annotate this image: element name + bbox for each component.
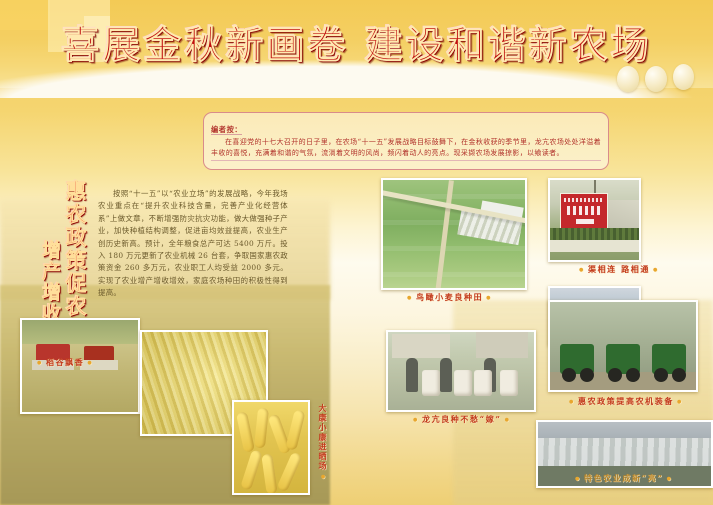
caption-rice-harvesters: 稻谷飘香 [34,357,96,368]
caption-corn-cobs: 大康小康进晒场 [318,404,329,482]
caption-greenhouse-field: 特色农业成新“亮” [572,473,676,484]
vertical-headline-main: 惠农政策促农业 [60,180,90,341]
photo-grain-bagging [386,330,536,412]
photo-corn-cobs [232,400,310,495]
decor-bubble-icon-3 [673,64,694,90]
poster-title: 喜展金秋新画卷 建设和谐新农场 [0,14,713,69]
poster-canvas: 喜展金秋新画卷 建设和谐新农场 编者按： 在喜迎党的十七大召开的日子里，在农场“… [0,0,713,505]
photo-tractor-fleet [548,300,698,392]
decor-bubble-icon-2 [645,66,667,92]
caption-tractor-fleet: 惠农政策提高农机装备 [566,396,686,407]
editor-note-box: 编者按： 在喜迎党的十七大召开的日子里，在农场“十一五”发展战略目标鼓舞下，在金… [203,112,609,170]
editor-note-body: 在喜迎党的十七大召开的日子里，在农场“十一五”发展战略目标鼓舞下，在金秋收获的季… [211,137,601,161]
photo-aerial-wheat-field [381,178,527,290]
editor-note-label: 编者按： [211,125,242,135]
article-body-text: 按照“十一五”以“农业立场”的发展战略，今年我场农业重点在“提升农业科技含量，完… [98,188,288,300]
photo-farm-signboard [548,178,641,262]
decor-bubble-icon-1 [617,66,639,92]
caption-aerial-wheat-field: 鸟瞰小麦良种田 [404,292,495,303]
caption-grain-bagging: 龙亢良种不愁“嫁” [410,414,514,425]
caption-farm-signboard: 渠相连 路相通 [576,264,662,275]
